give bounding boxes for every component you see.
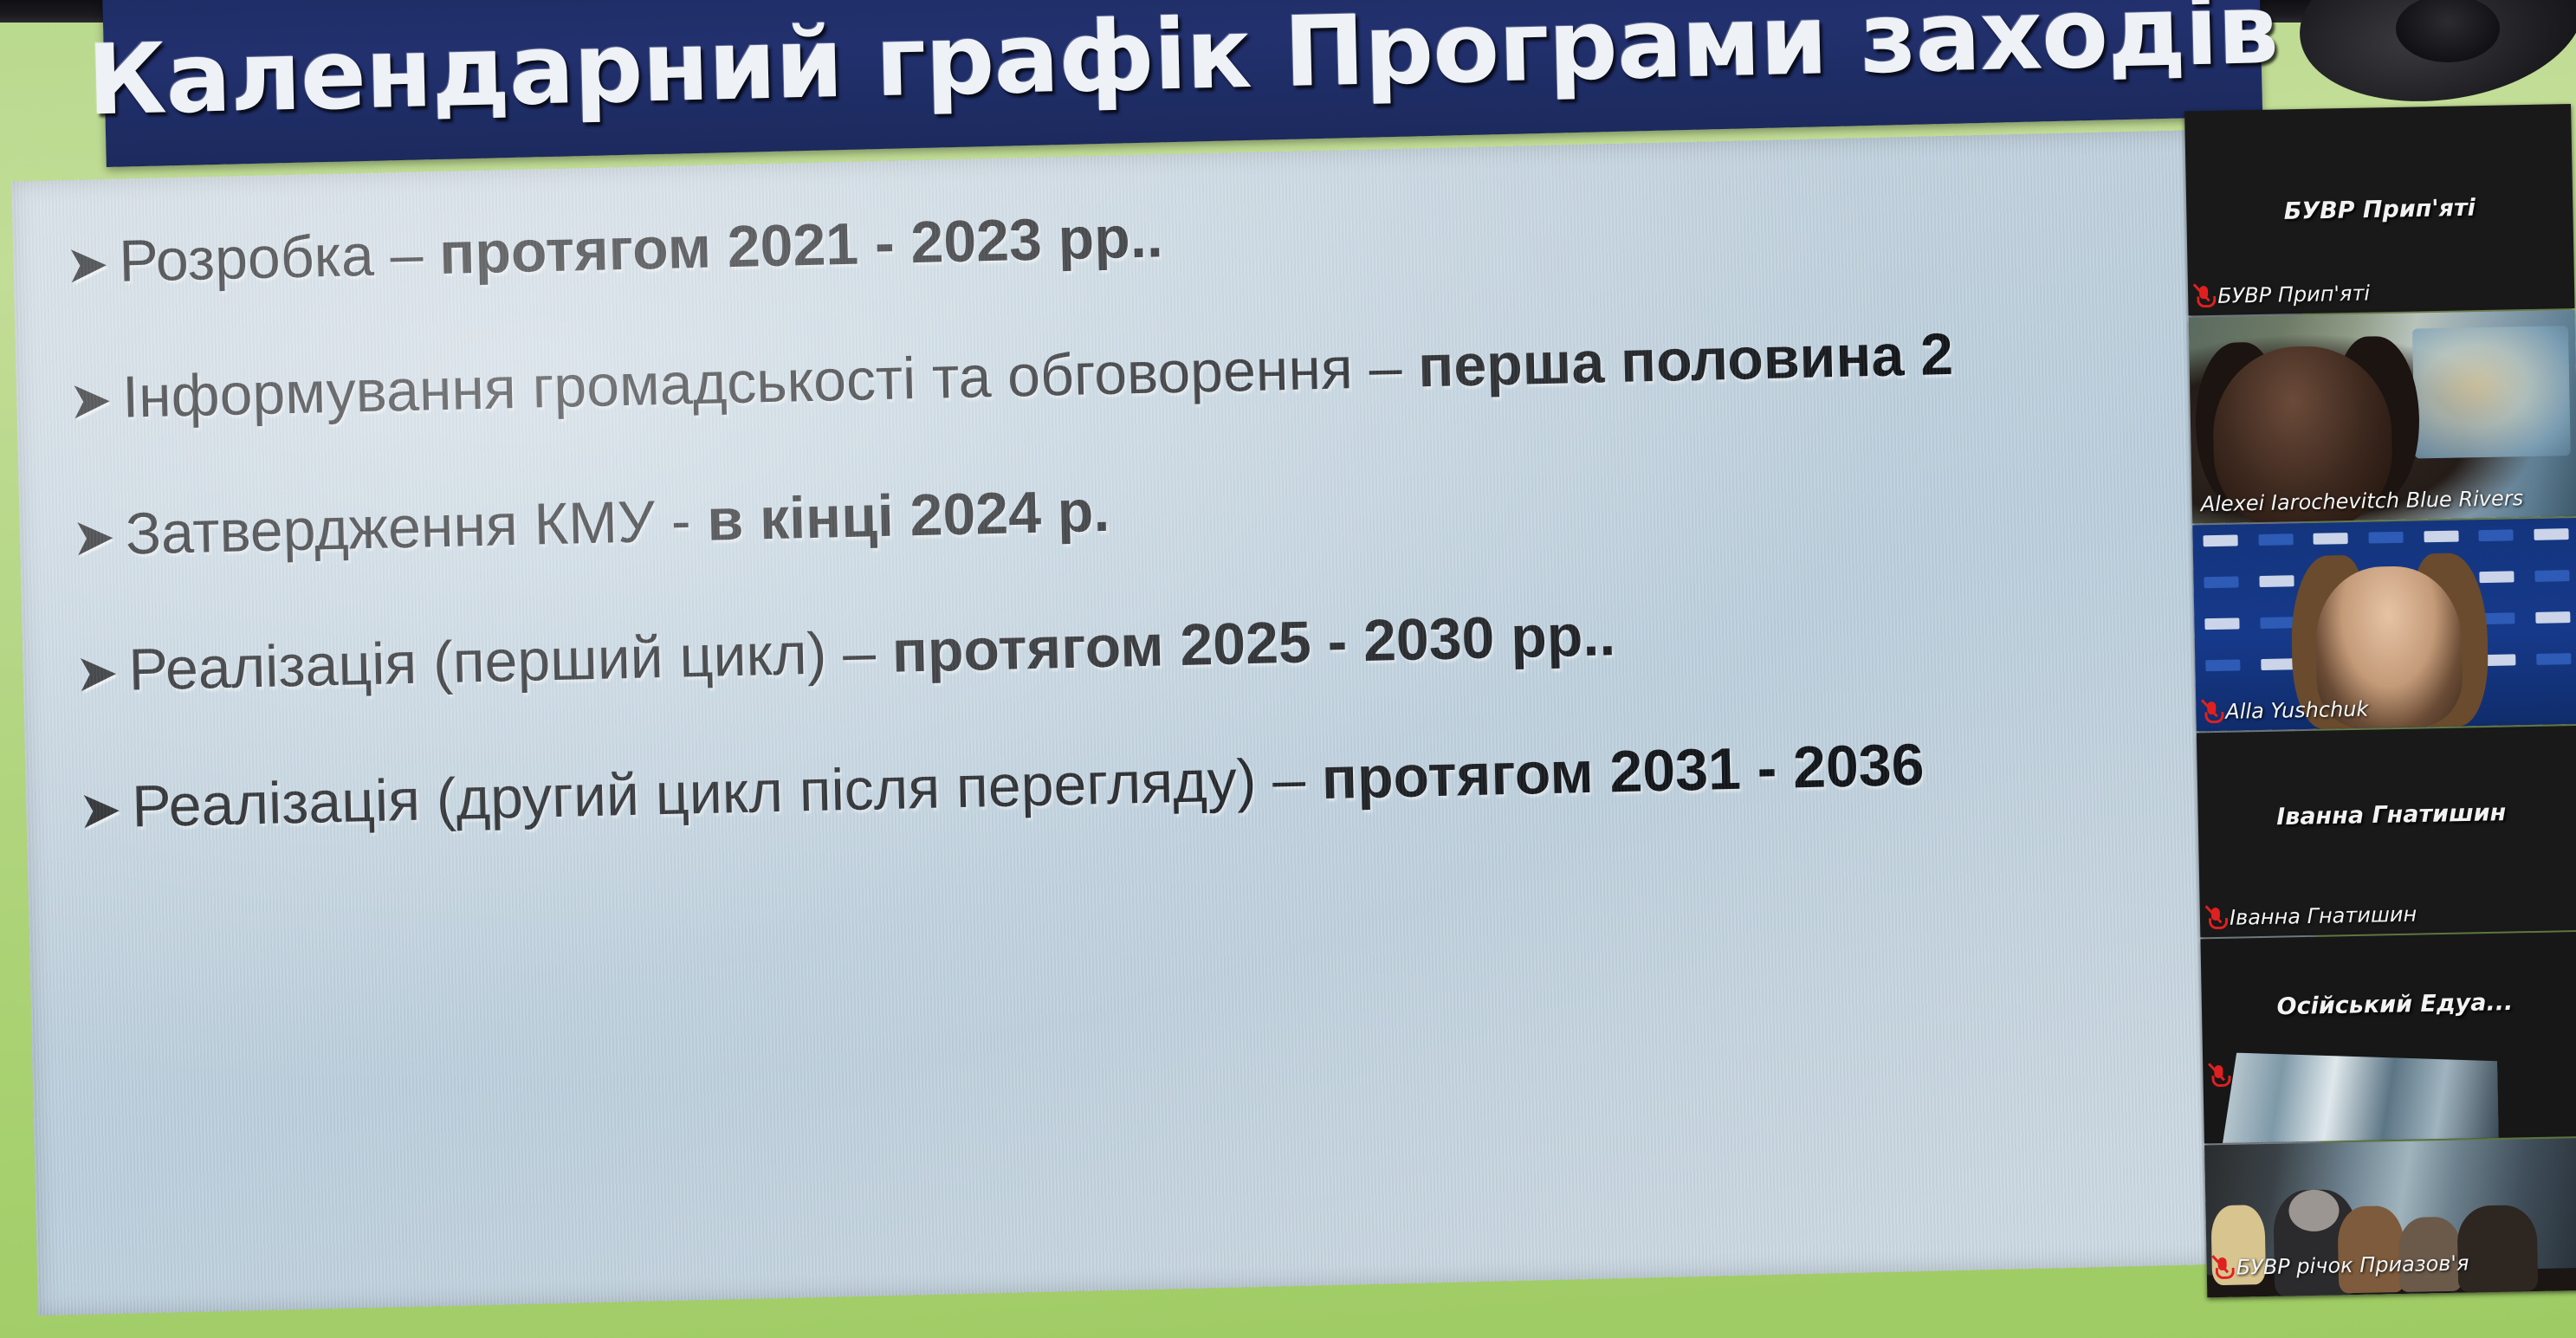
bullet-text-normal: Затвердження КМУ - bbox=[125, 488, 708, 567]
arrow-bullet-icon: ➤ bbox=[71, 510, 126, 563]
participant-label: БУВР річок Приазов'я bbox=[2215, 1251, 2469, 1281]
participant-tile[interactable]: Іванна Гнатишин Іванна Гнатишин bbox=[2197, 726, 2576, 938]
bullet-text-normal: Розробка – bbox=[119, 221, 441, 294]
mic-muted-icon bbox=[2211, 1064, 2225, 1087]
participant-display-name: Іванна Гнатишин bbox=[2197, 798, 2576, 832]
arrow-bullet-icon: ➤ bbox=[65, 238, 120, 291]
participant-display-name: БУВР Прип'яті bbox=[2186, 192, 2573, 227]
participant-label: Іванна Гнатишин bbox=[2209, 902, 2417, 931]
participant-name-text: БУВР річок Приазов'я bbox=[2236, 1251, 2469, 1280]
mic-muted-icon bbox=[2197, 285, 2210, 307]
bullet-text-bold: протягом 2021 - 2023 рр.. bbox=[438, 204, 1163, 287]
participant-label: БУВР Прип'яті bbox=[2197, 281, 2370, 308]
arrow-bullet-icon: ➤ bbox=[74, 647, 129, 700]
participant-label: Alexei Iarochevitch Blue Rivers bbox=[2201, 486, 2524, 516]
projected-slide: Календарний графік Програми заходів ➤ Ро… bbox=[0, 0, 2382, 1338]
arrow-bullet-icon: ➤ bbox=[68, 374, 123, 427]
bullet-text-bold: протягом 2025 - 2030 рр.. bbox=[891, 602, 1616, 685]
participant-display-name: Осійський Едуа... bbox=[2202, 988, 2576, 1023]
mic-muted-icon bbox=[2209, 907, 2223, 929]
participant-tile[interactable]: БУВР річок Приазов'я bbox=[2204, 1138, 2576, 1298]
avatar bbox=[2456, 1205, 2538, 1293]
page-title: Календарний графік Програми заходів bbox=[86, 0, 2279, 137]
participant-tile[interactable]: Осійський Едуа... Осійський Едуард bbox=[2200, 932, 2576, 1144]
video-feed bbox=[2220, 1048, 2499, 1144]
mic-muted-icon bbox=[2215, 1257, 2229, 1279]
list-item: ➤ Затвердження КМУ - в кінці 2024 р. bbox=[71, 453, 2289, 567]
bullet-text-normal: Реалізація (перший цикл) – bbox=[128, 619, 893, 703]
list-item: ➤ Інформування громадськості та обговоре… bbox=[68, 316, 2286, 430]
bullet-text-normal: Інформування громадськості та обговоренн… bbox=[121, 334, 1419, 430]
arrow-bullet-icon: ➤ bbox=[78, 783, 133, 836]
bullet-text-bold: перша половина 2 bbox=[1417, 321, 1953, 400]
bullet-text-bold: протягом 2031 - 2036 bbox=[1321, 731, 1925, 811]
participant-tile[interactable]: БУВР Прип'яті БУВР Прип'яті bbox=[2184, 104, 2574, 316]
bullet-text-normal: Реалізація (другий цикл після перегляду)… bbox=[131, 746, 1322, 839]
bullet-list: ➤ Розробка – протягом 2021 - 2023 рр.. ➤… bbox=[65, 180, 2298, 914]
list-item: ➤ Розробка – протягом 2021 - 2023 рр.. bbox=[65, 180, 2283, 294]
participant-name-text: Alla Yushchuk bbox=[2225, 697, 2369, 724]
participant-name-text: БУВР Прип'яті bbox=[2217, 281, 2370, 307]
mic-muted-icon bbox=[2204, 701, 2218, 723]
list-item: ➤ Реалізація (другий цикл після перегляд… bbox=[78, 725, 2296, 839]
list-item: ➤ Реалізація (перший цикл) – протягом 20… bbox=[74, 589, 2293, 703]
participant-name-text: Іванна Гнатишин bbox=[2230, 902, 2417, 930]
participant-tile[interactable]: Alexei Iarochevitch Blue Rivers bbox=[2189, 310, 2576, 524]
participant-label: Alla Yushchuk bbox=[2204, 697, 2369, 725]
participant-tile[interactable]: Alla Yushchuk bbox=[2192, 518, 2576, 732]
avatar bbox=[2337, 1205, 2404, 1293]
video-background-icon bbox=[2412, 326, 2571, 458]
slide-content-area: ➤ Розробка – протягом 2021 - 2023 рр.. ➤… bbox=[11, 127, 2324, 1315]
conference-room-scene: Календарний графік Програми заходів ➤ Ро… bbox=[0, 0, 2576, 1338]
bullet-text-bold: в кінці 2024 р. bbox=[706, 478, 1110, 553]
zoom-participant-strip[interactable]: БУВР Прип'яті БУВР Прип'яті Alexei Iaroc… bbox=[2184, 104, 2576, 1338]
participant-name-text: Alexei Iarochevitch Blue Rivers bbox=[2201, 486, 2524, 516]
